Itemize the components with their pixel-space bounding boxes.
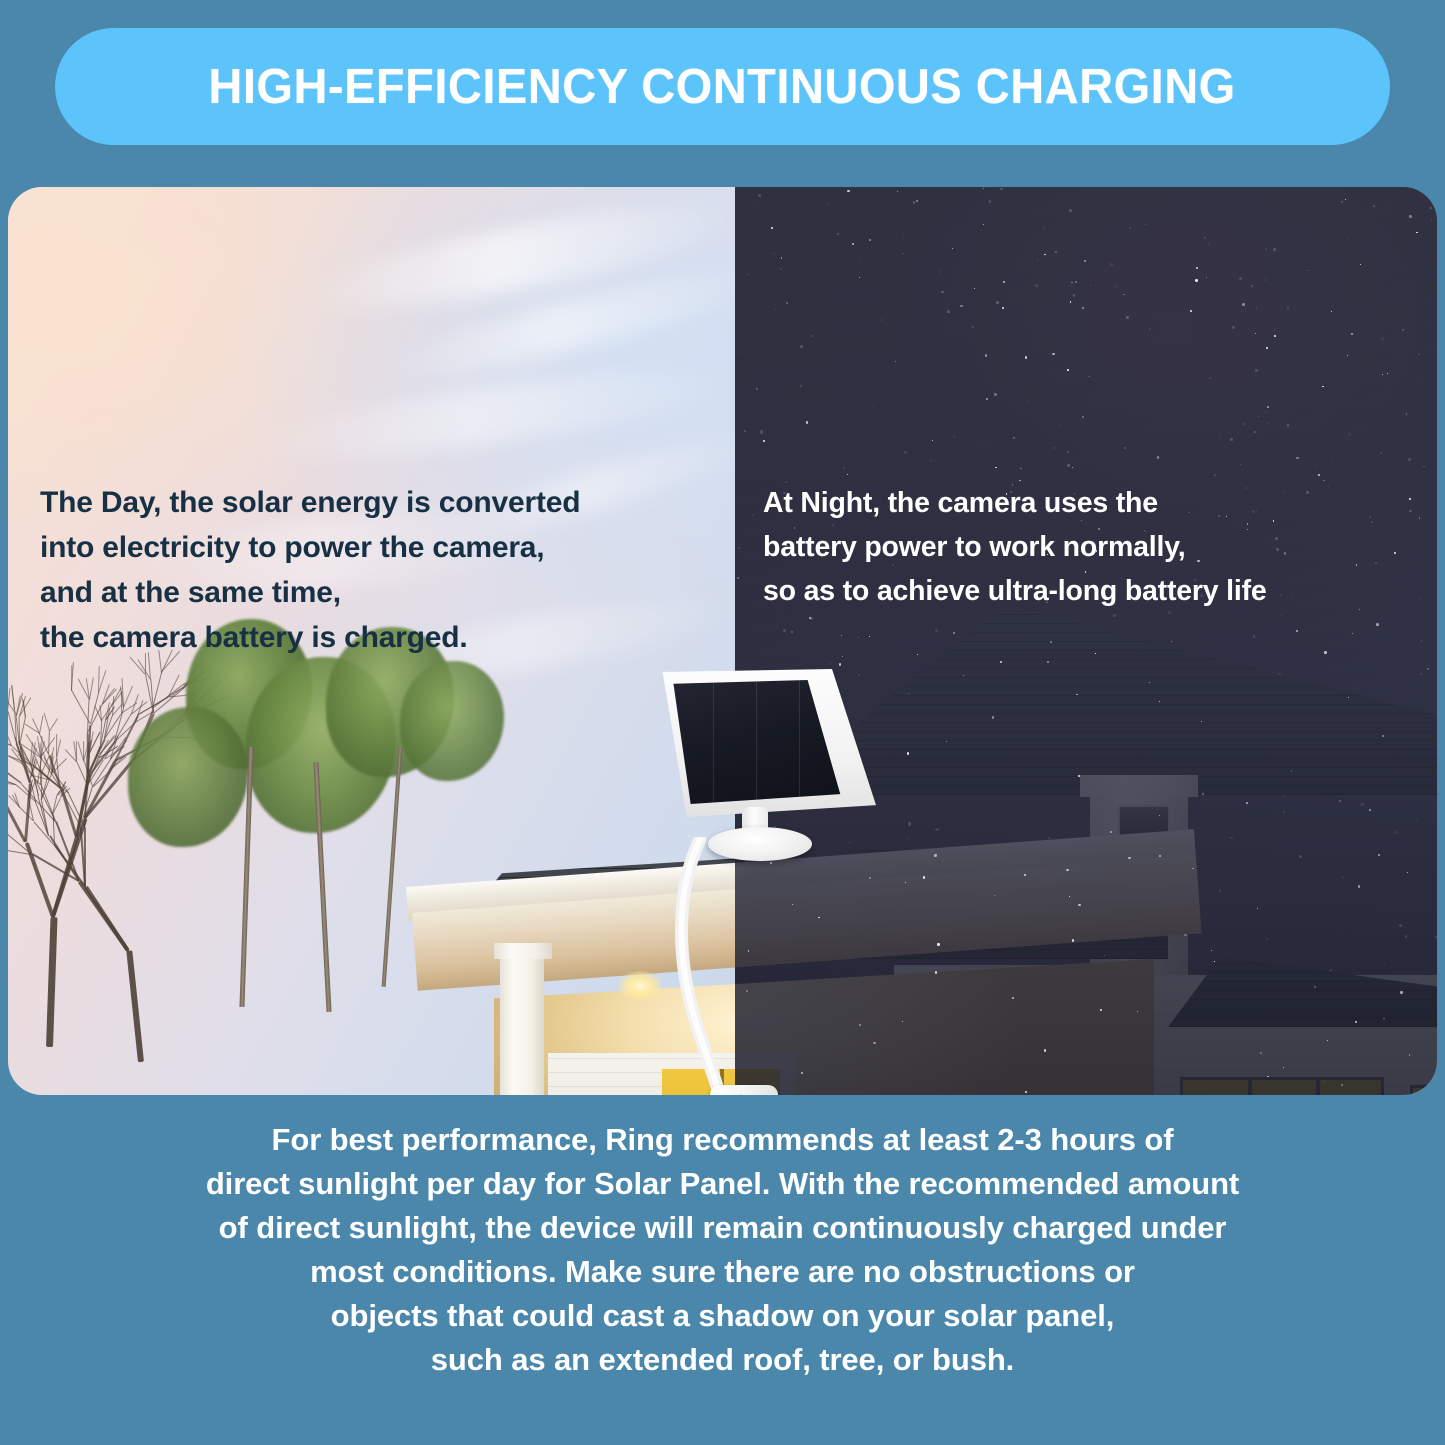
- window-mullion: [1316, 1077, 1320, 1095]
- window-mullion: [1248, 1077, 1252, 1095]
- day-caption: The Day, the solar energy is converted i…: [40, 480, 730, 660]
- window-lit: [1180, 1077, 1384, 1095]
- footer-line: For best performance, Ring recommends at…: [60, 1118, 1385, 1162]
- camera-brand-label: ring: [710, 1093, 778, 1095]
- footer-note: For best performance, Ring recommends at…: [60, 1118, 1385, 1382]
- camera-body: ring: [710, 1085, 778, 1095]
- footer-line: most conditions. Make sure there are no …: [60, 1250, 1385, 1294]
- night-caption-line: At Night, the camera uses the: [763, 481, 1437, 525]
- chimney-cap: [1080, 775, 1198, 797]
- footer-line: such as an extended roof, tree, or bush.: [60, 1338, 1385, 1382]
- night-caption: At Night, the camera uses the battery po…: [763, 481, 1437, 614]
- day-caption-line: the camera battery is charged.: [40, 615, 730, 660]
- footer-line: of direct sunlight, the device will rema…: [60, 1206, 1385, 1250]
- porch-column: [500, 949, 544, 1095]
- day-caption-line: The Day, the solar energy is converted: [40, 480, 730, 525]
- porch-column-capital: [494, 943, 552, 959]
- ring-security-camera: ring: [710, 1085, 778, 1095]
- day-caption-line: into electricity to power the camera,: [40, 525, 730, 570]
- footer-line: direct sunlight per day for Solar Panel.…: [60, 1162, 1385, 1206]
- day-caption-line: and at the same time,: [40, 570, 730, 615]
- charging-cable: [638, 837, 838, 1095]
- roof-right-wing: [1168, 957, 1437, 1027]
- night-caption-line: battery power to work normally,: [763, 525, 1437, 569]
- page-title: HIGH-EFFICIENCY CONTINUOUS CHARGING: [209, 59, 1236, 115]
- comparison-scene: ring The Day, the solar energy is conver…: [8, 187, 1437, 1095]
- solar-panel: [656, 669, 876, 849]
- night-caption-line: so as to achieve ultra-long battery life: [763, 569, 1437, 613]
- window-lit: [1410, 1085, 1437, 1095]
- header-banner: HIGH-EFFICIENCY CONTINUOUS CHARGING: [55, 28, 1390, 145]
- footer-line: objects that could cast a shadow on your…: [60, 1294, 1385, 1338]
